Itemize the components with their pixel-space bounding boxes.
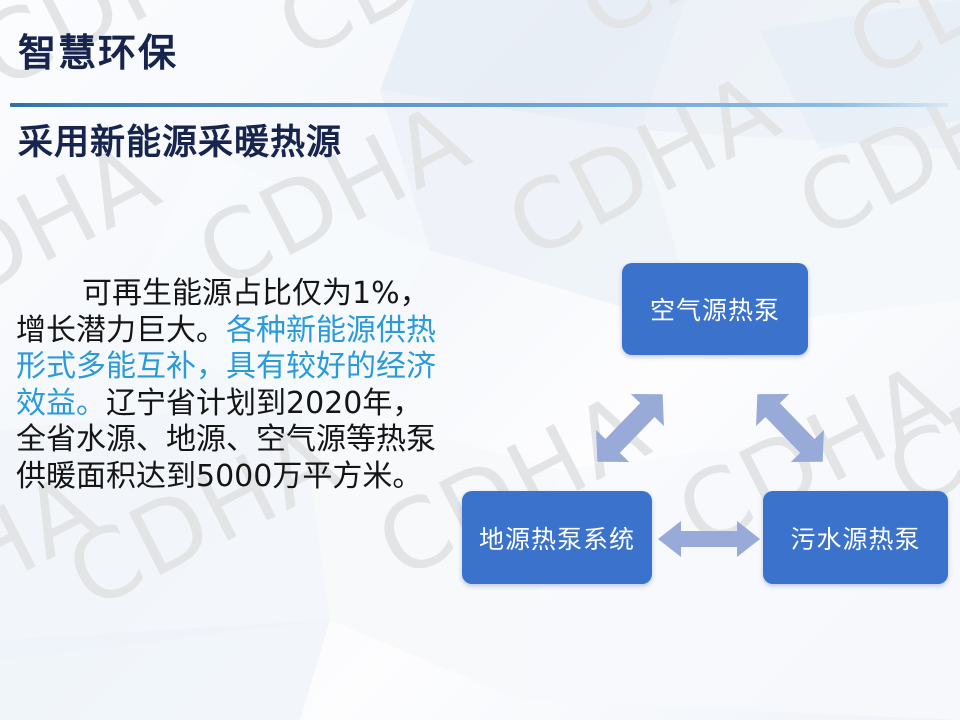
double-arrow-icon-ground-to-sewage <box>655 518 763 560</box>
watermark-text: CDHA <box>780 31 960 261</box>
double-arrow-icon-ground-to-air <box>575 372 685 484</box>
page-title: 智慧环保 <box>18 34 178 72</box>
node-label: 污水源热泵 <box>790 520 920 556</box>
watermark-text: CDHA <box>490 51 796 281</box>
watermark-text: CDHA <box>260 0 566 81</box>
section-title: 采用新能源采暖热源 <box>18 126 342 161</box>
slide-canvas: CDHA CDHA CDHA CDHA CDHA CDHA CDHA CDHA … <box>0 0 960 720</box>
double-arrow-icon-sewage-to-air <box>735 372 845 484</box>
diagram-node-air-source-heat-pump[interactable]: 空气源热泵 <box>622 263 808 355</box>
node-label: 空气源热泵 <box>650 291 780 327</box>
header-divider <box>10 103 948 107</box>
node-label: 地源热泵系统 <box>479 520 635 556</box>
diagram-node-ground-source-heat-pump-system[interactable]: 地源热泵系统 <box>462 491 652 584</box>
diagram-node-sewage-source-heat-pump[interactable]: 污水源热泵 <box>763 491 948 584</box>
body-paragraph: 可再生能源占比仅为1%，增长潜力巨大。各种新能源供热形式多能互补，具有较好的经济… <box>16 276 446 496</box>
watermark-text: CDHA <box>560 0 866 61</box>
watermark-text: CDHA <box>830 0 960 101</box>
